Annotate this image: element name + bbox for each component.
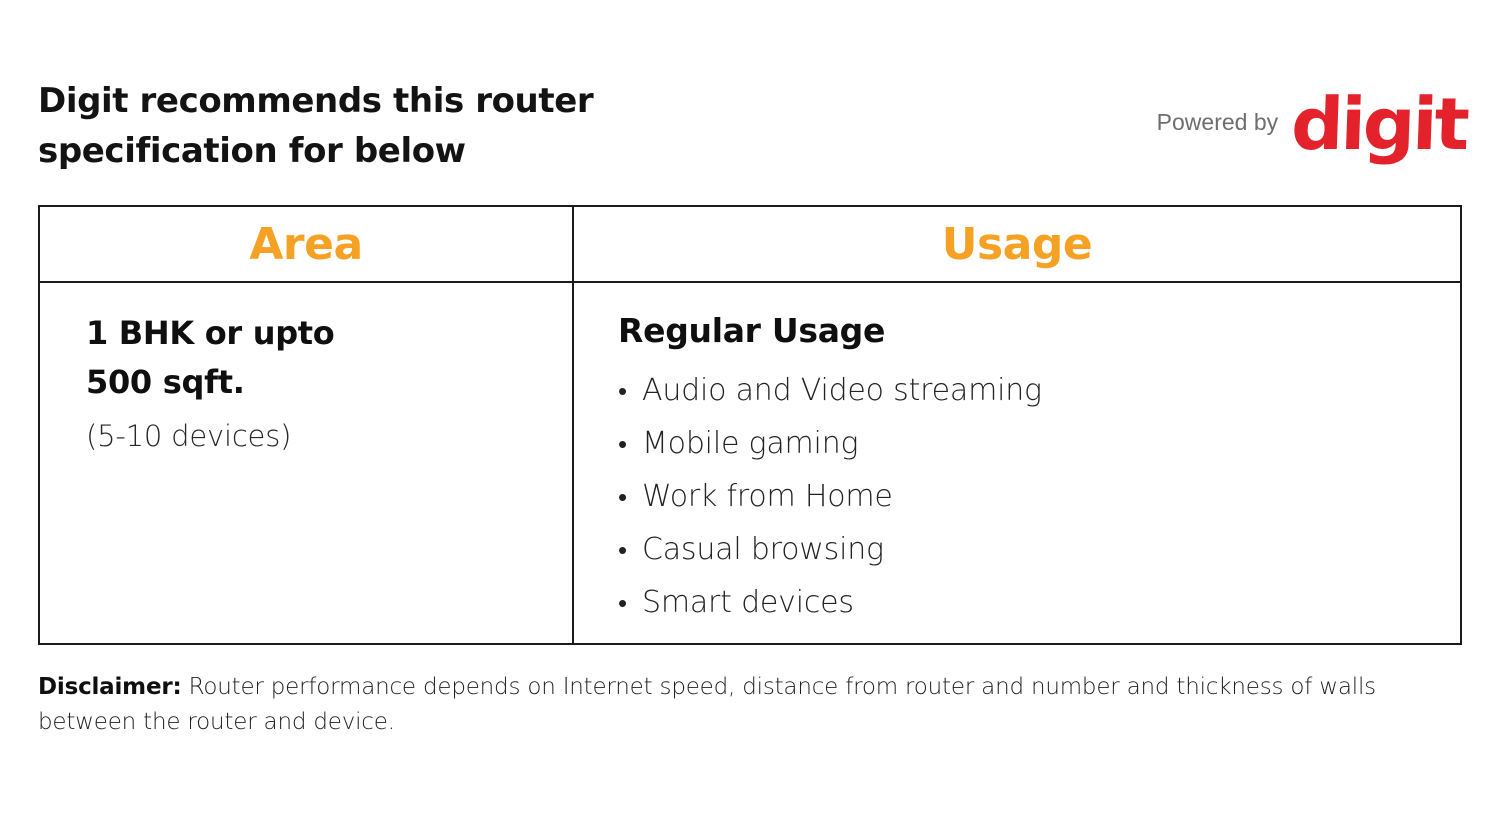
bullet-icon: • [618, 579, 642, 630]
card-header: Digit recommends this router specificati… [0, 0, 1500, 200]
area-heading: 1 BHK or upto 500 sqft. [86, 309, 486, 407]
usage-list-item: •Casual browsing [618, 524, 1460, 577]
usage-list: •Audio and Video streaming•Mobile gaming… [618, 365, 1460, 630]
column-header-usage: Usage [574, 207, 1460, 281]
bullet-icon: • [618, 420, 642, 471]
usage-heading: Regular Usage [618, 309, 1460, 353]
usage-list-item-label: Mobile gaming [642, 418, 858, 469]
brand-lockup: Powered by digit [1157, 84, 1462, 164]
cell-usage: Regular Usage •Audio and Video streaming… [574, 283, 1460, 643]
usage-list-item-label: Casual browsing [642, 524, 884, 575]
usage-list-item: •Mobile gaming [618, 418, 1460, 471]
router-recommendation-card: Digit recommends this router specificati… [0, 0, 1500, 832]
usage-list-item-label: Work from Home [642, 471, 893, 522]
column-header-area: Area [40, 207, 574, 281]
bullet-icon: • [618, 367, 642, 418]
powered-by-label: Powered by [1157, 109, 1278, 140]
bullet-icon: • [618, 526, 642, 577]
disclaimer-text: Router performance depends on Internet s… [38, 674, 1376, 735]
cell-area: 1 BHK or upto 500 sqft. (5-10 devices) [40, 283, 574, 643]
usage-list-item-label: Smart devices [642, 577, 854, 628]
usage-list-item: •Work from Home [618, 471, 1460, 524]
recommendation-table: Area Usage 1 BHK or upto 500 sqft. (5-10… [38, 205, 1462, 645]
disclaimer: Disclaimer: Router performance depends o… [38, 670, 1468, 740]
digit-logo: digit [1290, 88, 1468, 160]
table-row: 1 BHK or upto 500 sqft. (5-10 devices) R… [40, 283, 1460, 643]
bullet-icon: • [618, 473, 642, 524]
disclaimer-label: Disclaimer: [38, 674, 182, 700]
page-title: Digit recommends this router specificati… [38, 76, 738, 176]
usage-list-item-label: Audio and Video streaming [642, 365, 1042, 416]
usage-list-item: •Smart devices [618, 577, 1460, 630]
table-header-row: Area Usage [40, 207, 1460, 283]
area-device-count: (5-10 devices) [86, 419, 572, 453]
usage-list-item: •Audio and Video streaming [618, 365, 1460, 418]
